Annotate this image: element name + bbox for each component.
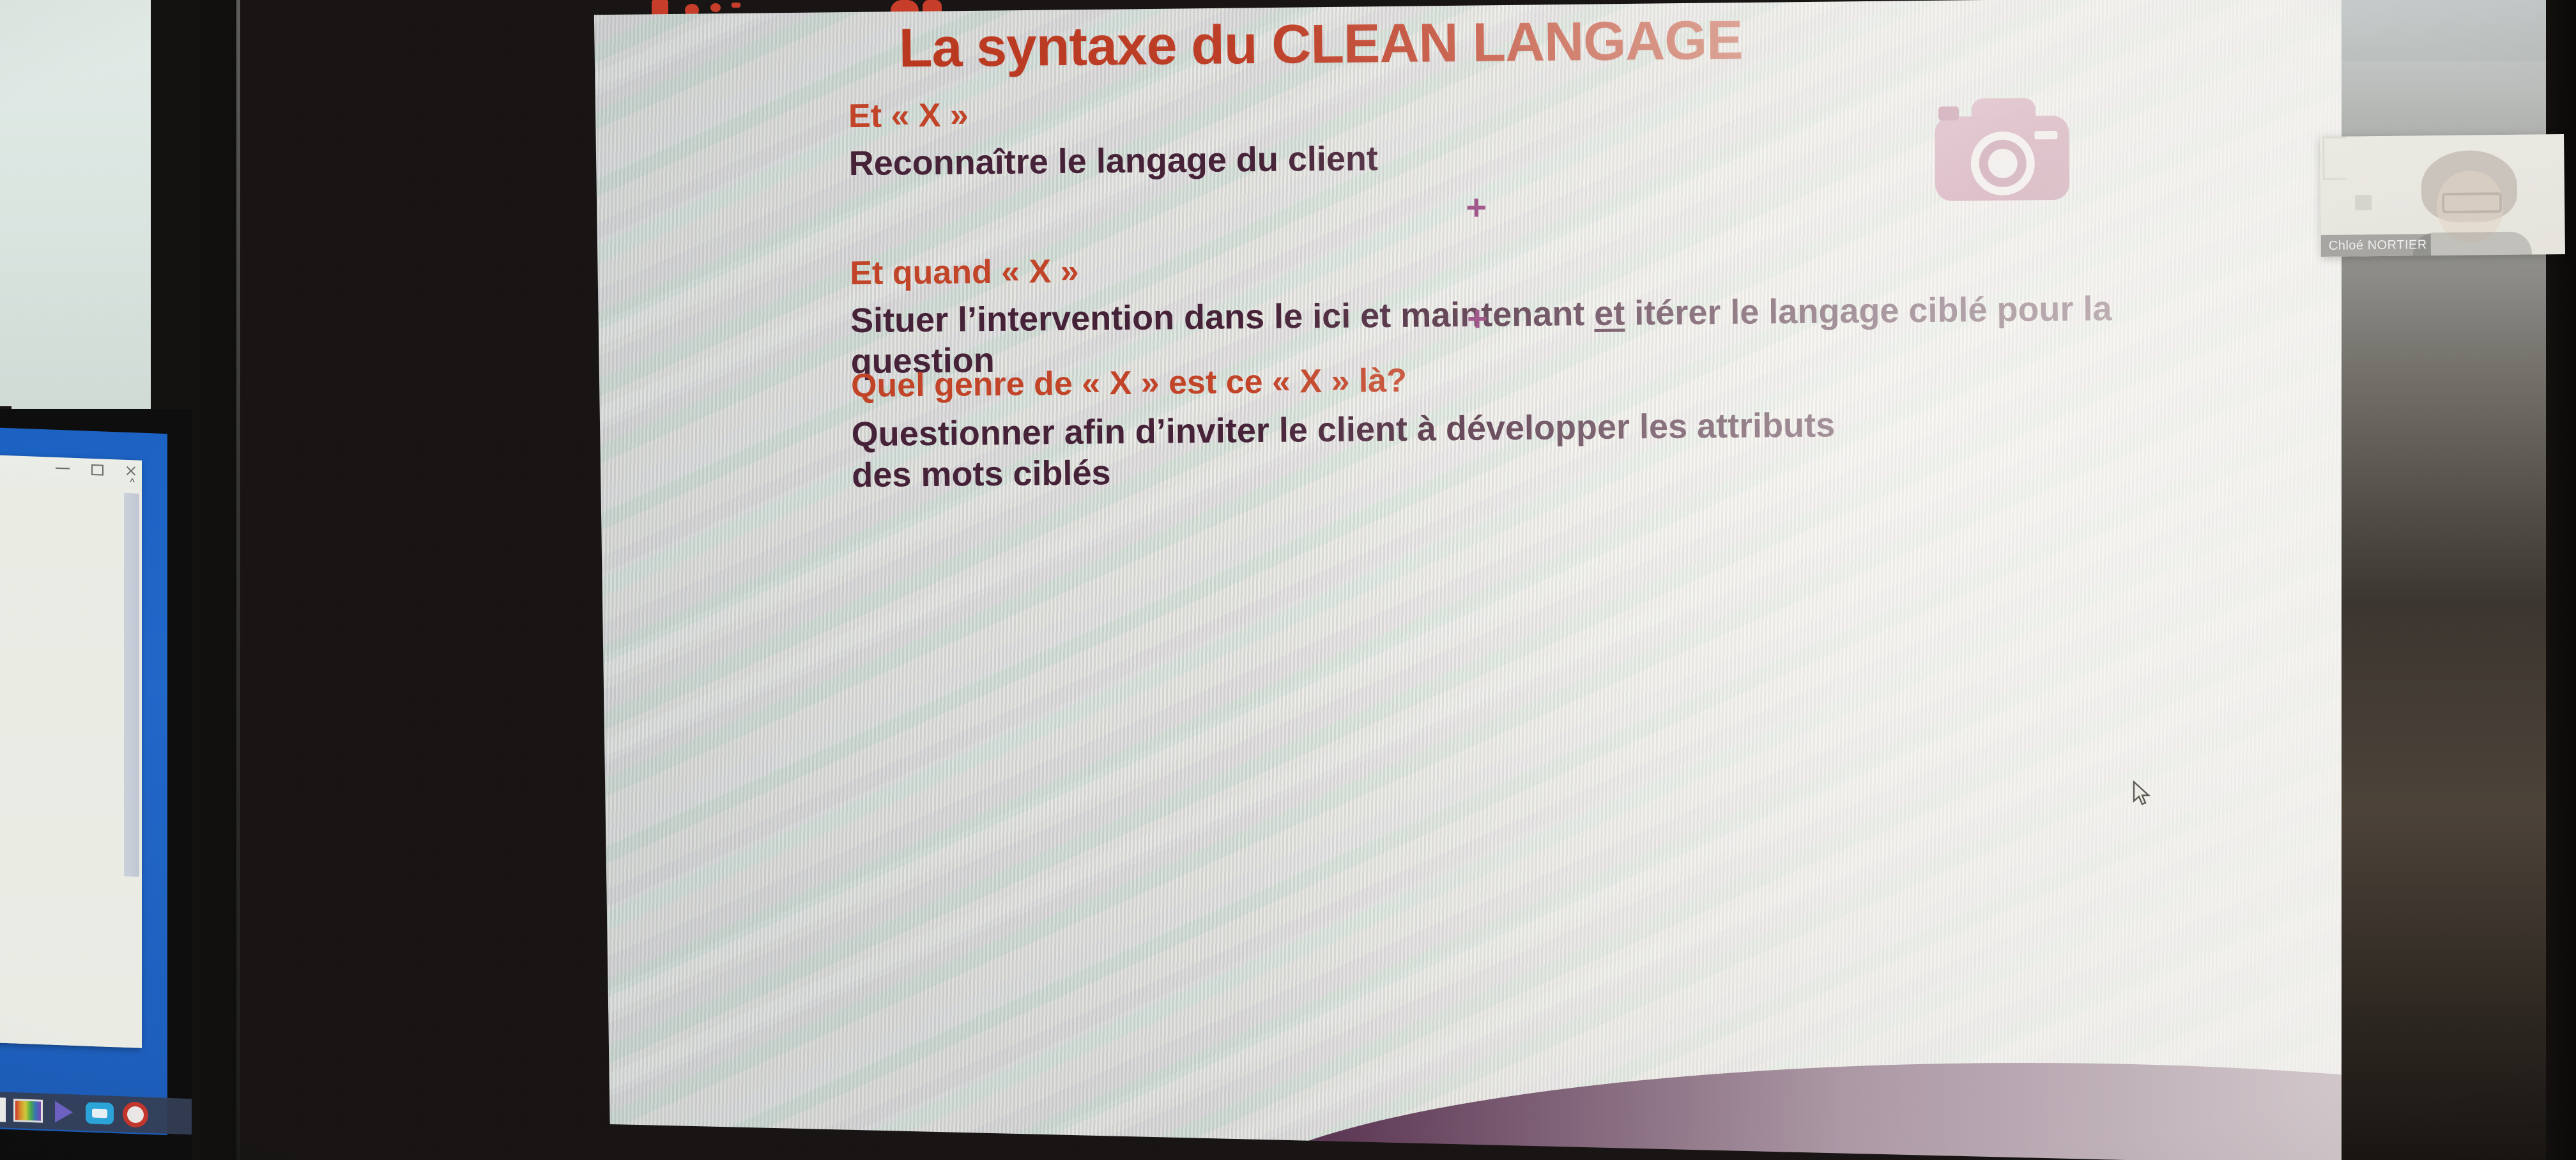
cut-off-text-fragment <box>732 3 740 8</box>
vertical-scrollbar[interactable] <box>124 493 139 877</box>
arrow-cursor <box>2132 781 2151 807</box>
video-conference-icon[interactable] <box>82 1095 118 1132</box>
block-1-heading: Et « X » <box>848 86 2126 135</box>
minimize-icon[interactable] <box>56 468 70 469</box>
separator-plus-1: + <box>1466 187 1487 228</box>
left-wall <box>0 0 151 409</box>
pillar-seam <box>236 0 240 1160</box>
slide-title: La syntaxe du CLEAN LANGAGE <box>898 4 2273 80</box>
red-circle-app-icon[interactable] <box>118 1096 153 1133</box>
dark-pillar-right <box>199 0 239 1160</box>
color-grid-app-icon[interactable] <box>10 1092 46 1129</box>
slide-block-1: Et « X » Reconnaître le langage du clien… <box>848 86 2127 185</box>
projection-screen: La syntaxe du CLEAN LANGAGE Et « X » Rec… <box>578 0 2342 1160</box>
close-icon[interactable] <box>125 465 137 477</box>
video-participant-thumbnail[interactable]: Chloé NORTIER <box>2320 134 2565 257</box>
k-app-icon[interactable]: K <box>0 1091 10 1128</box>
maximize-icon[interactable] <box>91 464 103 475</box>
window-content-area <box>0 482 142 1048</box>
ceiling-strip <box>2342 0 2576 61</box>
room-photo-scene: ^ K La syntaxe du CLEAN LANGAGE <box>0 0 2576 1160</box>
taskbar[interactable]: K <box>0 1091 192 1134</box>
block-3-body: Questionner afin d’inviter le client à d… <box>851 405 1855 496</box>
chevron-up-icon[interactable]: ^ <box>126 479 138 487</box>
slide-block-3: Quel genre de « X » est ce « X » là? Que… <box>851 355 2130 496</box>
separator-plus-2: + <box>1467 298 1488 339</box>
block-2-body-underlined: et <box>1594 294 1625 333</box>
cut-off-text-fragment <box>710 3 721 12</box>
window-controls[interactable] <box>56 462 137 477</box>
media-play-icon[interactable] <box>46 1094 82 1131</box>
block-2-heading: Et quand « X » <box>850 243 2127 292</box>
participant-name-label: Chloé NORTIER <box>2321 234 2431 257</box>
slide-content: La syntaxe du CLEAN LANGAGE Et « X » Rec… <box>578 0 2342 1160</box>
laptop-screen: ^ K <box>0 409 192 1160</box>
application-window[interactable]: ^ <box>0 454 142 1048</box>
